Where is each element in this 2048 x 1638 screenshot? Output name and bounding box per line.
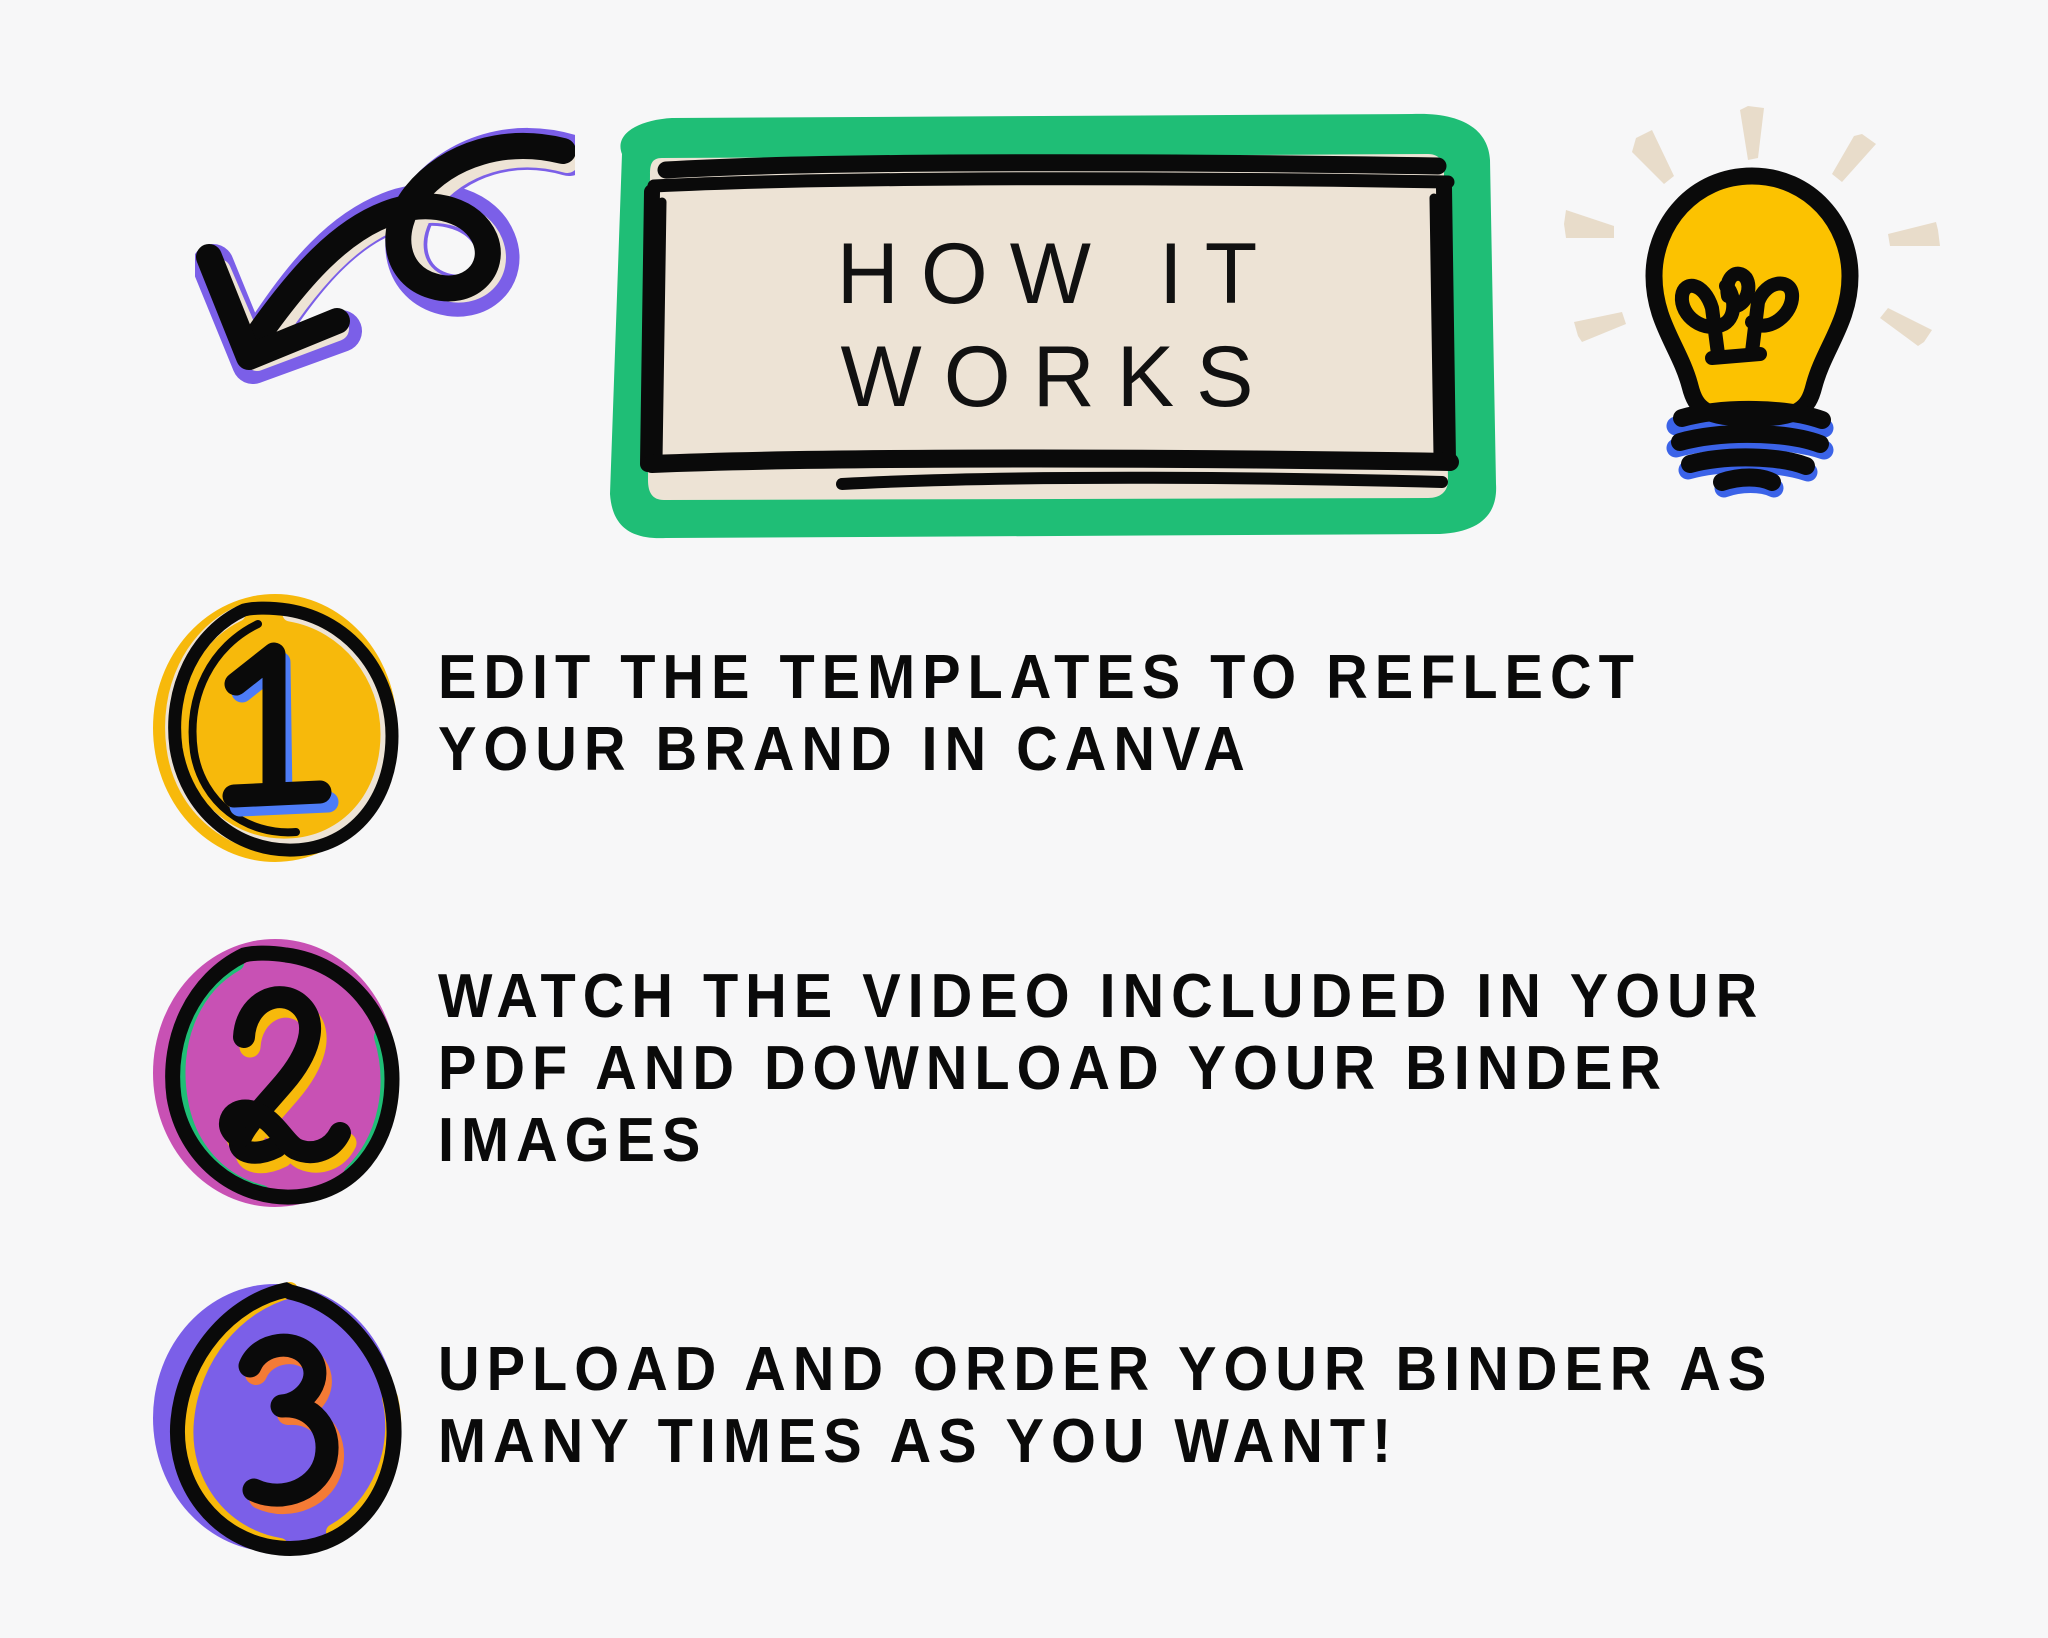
step-row: UPLOAD AND ORDER YOUR BINDER AS MANY TIM…: [0, 1270, 2048, 1615]
title-box: HOW IT WORKS: [592, 112, 1502, 540]
step-number-badge-3: [140, 1270, 410, 1560]
step-text: EDIT THE TEMPLATES TO REFLECT YOUR BRAND…: [438, 580, 1935, 786]
lightbulb-icon: [1552, 96, 1952, 506]
step-row: EDIT THE TEMPLATES TO REFLECT YOUR BRAND…: [0, 580, 2048, 925]
how-it-works-infographic: HOW IT WORKS: [0, 0, 2048, 1638]
header-zone: HOW IT WORKS: [0, 0, 2048, 560]
step-text: WATCH THE VIDEO INCLUDED IN YOUR PDF AND…: [438, 925, 1935, 1177]
step-text: UPLOAD AND ORDER YOUR BINDER AS MANY TIM…: [438, 1270, 1935, 1478]
curly-arrow-icon: [195, 125, 575, 465]
step-number-badge-1: [140, 580, 410, 870]
steps-list: EDIT THE TEMPLATES TO REFLECT YOUR BRAND…: [0, 580, 2048, 1615]
step-row: WATCH THE VIDEO INCLUDED IN YOUR PDF AND…: [0, 925, 2048, 1270]
step-number-badge-2: [140, 925, 410, 1215]
